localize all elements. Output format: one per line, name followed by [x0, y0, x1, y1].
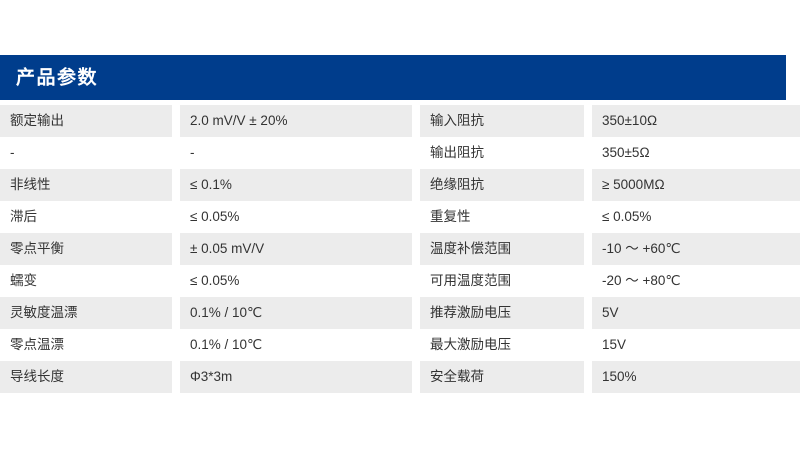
column-gutter	[172, 201, 180, 233]
spec-value-right: ≤ 0.05%	[592, 201, 800, 233]
spec-label-left: 额定输出	[0, 105, 172, 137]
column-gutter	[584, 105, 592, 137]
column-gutter	[172, 137, 180, 169]
section-header-bar: 产品参数	[0, 55, 786, 100]
spec-label-right: 绝缘阻抗	[420, 169, 584, 201]
page-title: 产品参数	[16, 68, 98, 87]
column-gutter	[584, 297, 592, 329]
spec-value-right: ≥ 5000MΩ	[592, 169, 800, 201]
spec-value-right: -10 ～ +60℃	[592, 233, 800, 265]
column-gutter	[412, 329, 420, 361]
table-row: 零点平衡± 0.05 mV/V温度补偿范围-10 ～ +60℃	[0, 233, 800, 265]
spec-value-left: 2.0 mV/V ± 20%	[180, 105, 412, 137]
column-gutter	[584, 361, 592, 393]
table-row: --输出阻抗350±5Ω	[0, 137, 800, 169]
table-row: 灵敏度温漂0.1% / 10℃推荐激励电压5V	[0, 297, 800, 329]
product-spec-page: 产品参数 额定输出2.0 mV/V ± 20%输入阻抗350±10Ω--输出阻抗…	[0, 0, 800, 460]
spec-label-right: 推荐激励电压	[420, 297, 584, 329]
column-gutter	[172, 265, 180, 297]
spec-value-right: 150%	[592, 361, 800, 393]
column-gutter	[412, 137, 420, 169]
spec-value-left: ≤ 0.1%	[180, 169, 412, 201]
spec-label-left: 灵敏度温漂	[0, 297, 172, 329]
table-row: 非线性≤ 0.1%绝缘阻抗≥ 5000MΩ	[0, 169, 800, 201]
column-gutter	[412, 297, 420, 329]
column-gutter	[584, 233, 592, 265]
spec-label-left: -	[0, 137, 172, 169]
spec-label-right: 安全载荷	[420, 361, 584, 393]
column-gutter	[172, 361, 180, 393]
spec-label-left: 蠕变	[0, 265, 172, 297]
spec-label-left: 导线长度	[0, 361, 172, 393]
spec-value-right: 15V	[592, 329, 800, 361]
spec-value-left: 0.1% / 10℃	[180, 297, 412, 329]
column-gutter	[412, 233, 420, 265]
column-gutter	[172, 233, 180, 265]
spec-label-right: 重复性	[420, 201, 584, 233]
spec-value-left: -	[180, 137, 412, 169]
spec-value-left: Φ3*3m	[180, 361, 412, 393]
column-gutter	[412, 105, 420, 137]
spec-value-right: 350±10Ω	[592, 105, 800, 137]
spec-value-right: 5V	[592, 297, 800, 329]
table-row: 蠕变≤ 0.05%可用温度范围-20 ～ +80℃	[0, 265, 800, 297]
spec-label-right: 可用温度范围	[420, 265, 584, 297]
table-row: 额定输出2.0 mV/V ± 20%输入阻抗350±10Ω	[0, 105, 800, 137]
spec-label-left: 滞后	[0, 201, 172, 233]
spec-label-left: 非线性	[0, 169, 172, 201]
column-gutter	[412, 361, 420, 393]
column-gutter	[172, 329, 180, 361]
spec-value-right: 350±5Ω	[592, 137, 800, 169]
table-row: 滞后≤ 0.05%重复性≤ 0.05%	[0, 201, 800, 233]
product-spec-table: 额定输出2.0 mV/V ± 20%输入阻抗350±10Ω--输出阻抗350±5…	[0, 105, 800, 393]
spec-value-left: ± 0.05 mV/V	[180, 233, 412, 265]
column-gutter	[412, 201, 420, 233]
table-row: 导线长度Φ3*3m安全载荷150%	[0, 361, 800, 393]
spec-label-right: 最大激励电压	[420, 329, 584, 361]
spec-label-left: 零点平衡	[0, 233, 172, 265]
spec-label-right: 输入阻抗	[420, 105, 584, 137]
column-gutter	[584, 201, 592, 233]
column-gutter	[172, 297, 180, 329]
spec-label-right: 温度补偿范围	[420, 233, 584, 265]
spec-value-left: ≤ 0.05%	[180, 265, 412, 297]
spec-label-right: 输出阻抗	[420, 137, 584, 169]
spec-label-left: 零点温漂	[0, 329, 172, 361]
column-gutter	[172, 169, 180, 201]
spec-table-body: 额定输出2.0 mV/V ± 20%输入阻抗350±10Ω--输出阻抗350±5…	[0, 105, 800, 393]
column-gutter	[412, 265, 420, 297]
table-row: 零点温漂0.1% / 10℃最大激励电压15V	[0, 329, 800, 361]
column-gutter	[584, 265, 592, 297]
spec-value-left: ≤ 0.05%	[180, 201, 412, 233]
spec-value-right: -20 ～ +80℃	[592, 265, 800, 297]
column-gutter	[584, 137, 592, 169]
column-gutter	[172, 105, 180, 137]
column-gutter	[412, 169, 420, 201]
column-gutter	[584, 329, 592, 361]
column-gutter	[584, 169, 592, 201]
spec-value-left: 0.1% / 10℃	[180, 329, 412, 361]
